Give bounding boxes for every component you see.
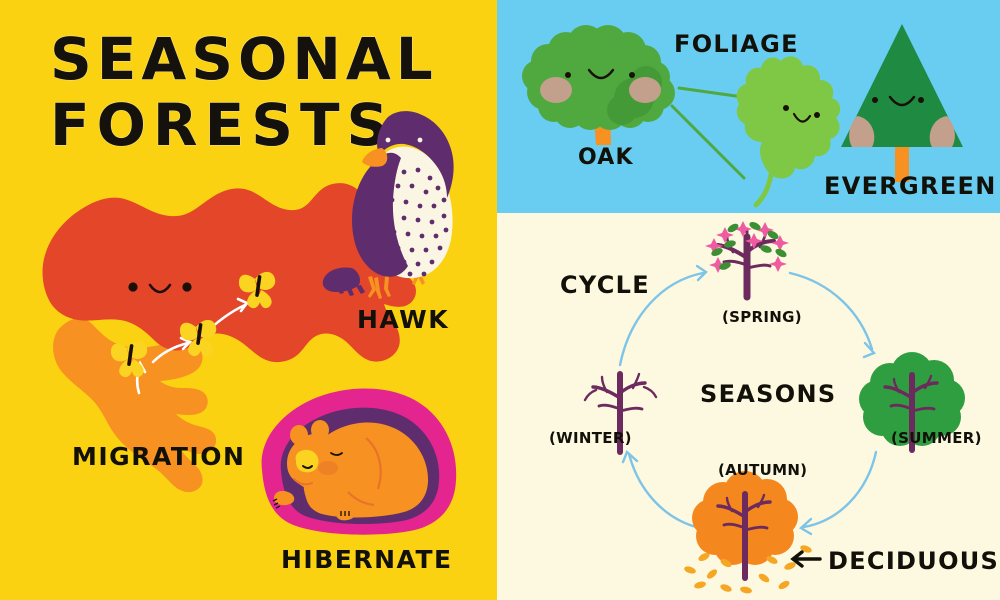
label-summer: (SUMMER): [891, 429, 982, 447]
title-line-one: SEASONAL: [50, 26, 410, 92]
label-winter: (WINTER): [549, 429, 632, 447]
label-autumn: (AUTUMN): [718, 461, 807, 479]
label-cycle: CYCLE: [560, 271, 650, 299]
label-spring: (SPRING): [722, 308, 802, 326]
label-oak: OAK: [578, 145, 634, 170]
label-hawk: HAWK: [357, 305, 449, 334]
label-evergreen: EVERGREEN: [824, 172, 997, 200]
label-migration: MIGRATION: [72, 442, 245, 471]
label-deciduous: DECIDUOUS: [828, 547, 999, 575]
poster-illustration: SEASONAL FORESTS: [0, 0, 1000, 600]
label-hibernate: HIBERNATE: [281, 545, 453, 574]
label-foliage: FOLIAGE: [674, 30, 799, 58]
title-line-two: FORESTS: [50, 92, 410, 158]
page-title: SEASONAL FORESTS: [50, 26, 410, 158]
label-seasons: SEASONS: [700, 380, 836, 408]
